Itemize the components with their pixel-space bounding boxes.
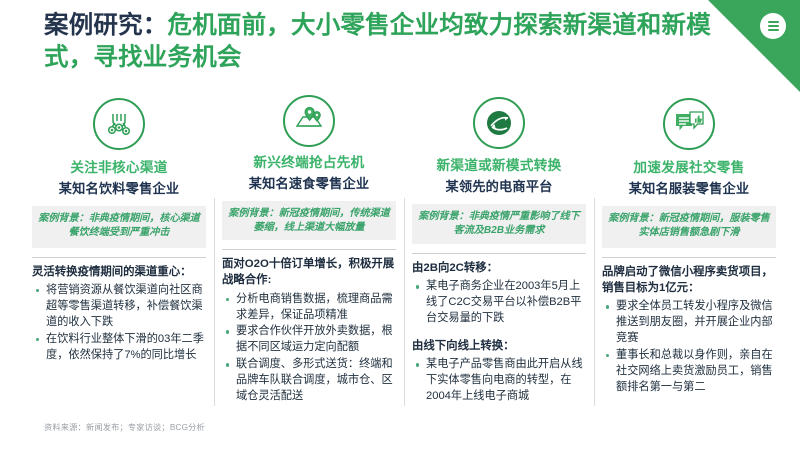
globe-arrow-icon: [473, 97, 525, 149]
column-subheading-4: 某知名服装零售企业: [602, 181, 776, 197]
source-note: 资料来源：新闻发布；专家访谈；BCG分析: [44, 421, 205, 433]
divider-4: [602, 257, 776, 258]
bullet-list-3-2: 某电子产品零售商由此开启从线下实体零售向电商的转型，在2004年上线电子商城: [414, 357, 586, 406]
bullet-list-4-1: 要求全体员工转发小程序及微信推送到朋友圈，并开展企业内部竞赛 董事长和总裁以身作…: [604, 299, 776, 396]
bullet-list-3-1: 某电子商务企业在2003年5月上线了C2C交易平台以补偿B2B平台交易量的下跌: [414, 279, 586, 328]
column-background-note-3: 案例背景：非典疫情严重影响了线下客流及B2B业务需求: [412, 204, 586, 245]
icon-wrap-3: [412, 94, 586, 152]
column-background-note-2: 案例背景：新冠疫情期间，传统渠道萎缩，线上渠道大幅放量: [222, 201, 396, 240]
bullet-list-2-1: 分析电商销售数据，梳理商品需求差异，保证品项精准 要求合作伙伴开放外卖数据，根据…: [224, 292, 396, 406]
column-heading-1: 关注非核心渠道: [32, 160, 206, 176]
icon-wrap-4: [602, 94, 776, 154]
column-subheading-3: 某领先的电商平台: [412, 179, 586, 195]
case-column-3: 新渠道或新模式转换 某领先的电商平台 案例背景：非典疫情严重影响了线下客流及B2…: [404, 94, 594, 406]
column-background-note-1: 案例背景：非典疫情期间，核心渠道餐饮终端受到严重冲击: [32, 206, 206, 248]
column-heading-4: 加速发展社交零售: [602, 160, 776, 176]
section-lead-1-1: 灵活转换疫情期间的渠道重心：: [32, 264, 206, 280]
slide-root: 案例研究：危机面前，大小零售企业均致力探索新渠道和新模式，寻找业务机会: [0, 0, 800, 450]
case-column-2: 新兴终端抢占先机 某知名速食零售企业 案例背景：新冠疫情期间，传统渠道萎缩，线上…: [214, 94, 404, 406]
page-title-prefix: 案例研究：: [44, 12, 168, 39]
case-column-1: 关注非核心渠道 某知名饮料零售企业 案例背景：非典疫情期间，核心渠道餐饮终端受到…: [24, 94, 214, 406]
chat-thumbsup-icon: [663, 98, 715, 150]
column-subheading-1: 某知名饮料零售企业: [32, 181, 206, 197]
list-item: 某电子产品零售商由此开启从线下实体零售向电商的转型，在2004年上线电子商城: [414, 357, 586, 405]
icon-wrap-1: [32, 94, 206, 154]
column-heading-3: 新渠道或新模式转换: [412, 158, 586, 174]
list-item: 联合调度、多形式送货：终端和品牌车队联合调度，城市仓、区域仓灵活配送: [224, 357, 396, 405]
list-item: 某电子商务企业在2003年5月上线了C2C交易平台以补偿B2B平台交易量的下跌: [414, 279, 586, 327]
case-columns: 关注非核心渠道 某知名饮料零售企业 案例背景：非典疫情期间，核心渠道餐饮终端受到…: [24, 94, 784, 406]
section-lead-2-1: 面对O2O十倍订单增长，积极开展战略合作:: [222, 256, 396, 288]
list-item: 要求合作伙伴开放外卖数据，根据不同区域运力定向配额: [224, 324, 396, 356]
network-nodes-icon: [93, 98, 145, 150]
divider-2: [222, 249, 396, 250]
icon-wrap-2: [222, 94, 396, 149]
section-lead-3-2: 由线下向线上转换：: [412, 338, 586, 354]
column-background-note-4: 案例背景：新冠疫情期间，服装零售实体店销售额急剧下滑: [602, 206, 776, 248]
hamburger-menu-icon[interactable]: [760, 13, 786, 39]
bullet-list-1-1: 将营销资源从餐饮渠道向社区商超等零售渠道转移，补偿餐饮渠道的收入下跌 在饮料行业…: [34, 283, 206, 365]
list-item: 在饮料行业整体下滑的03年二季度，依然保持了7%的同比增长: [34, 332, 206, 364]
list-item: 董事长和总裁以身作则，亲自在社交网络上卖货激励员工，销售额排名第一与第二: [604, 348, 776, 396]
column-subheading-2: 某知名速食零售企业: [222, 176, 396, 192]
section-lead-4-1: 品牌启动了微信小程序卖货项目，销售目标为1亿元：: [602, 264, 776, 296]
case-column-4: 加速发展社交零售 某知名服装零售企业 案例背景：新冠疫情期间，服装零售实体店销售…: [594, 94, 784, 406]
list-item: 分析电商销售数据，梳理商品需求差异，保证品项精准: [224, 292, 396, 324]
list-item: 将营销资源从餐饮渠道向社区商超等零售渠道转移，补偿餐饮渠道的收入下跌: [34, 283, 206, 331]
divider-1: [32, 257, 206, 258]
list-item: 要求全体员工转发小程序及微信推送到朋友圈，并开展企业内部竞赛: [604, 299, 776, 347]
map-pins-icon: [283, 95, 335, 147]
page-title: 案例研究：危机面前，大小零售企业均致力探索新渠道和新模式，寻找业务机会: [44, 10, 734, 75]
column-heading-2: 新兴终端抢占先机: [222, 155, 396, 171]
divider-3: [412, 253, 586, 254]
section-lead-3-1: 由2B向2C转移：: [412, 260, 586, 276]
